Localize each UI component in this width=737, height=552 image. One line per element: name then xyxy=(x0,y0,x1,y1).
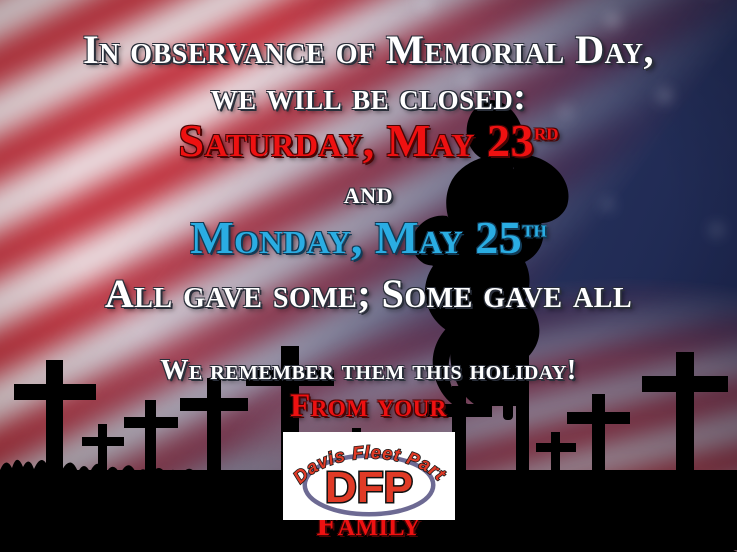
ordinal-suffix-rd: rd xyxy=(534,120,559,146)
conjunction-and: and xyxy=(0,177,737,208)
closure-date-saturday-text: Saturday, May 23 xyxy=(178,115,533,166)
memorial-day-announcement-graphic: In observance of Memorial Day, we will b… xyxy=(0,0,737,552)
closure-date-monday: Monday, May 25th xyxy=(0,215,737,261)
closure-date-saturday: Saturday, May 23rd xyxy=(0,118,737,164)
ordinal-suffix-th: th xyxy=(522,217,547,243)
signoff-from-your: From your xyxy=(0,390,737,423)
remembrance-line: We remember them this holiday! xyxy=(0,357,737,385)
headline-line-1: In observance of Memorial Day, xyxy=(0,30,737,70)
tribute-quote: All gave some; Some gave all xyxy=(0,274,737,314)
logo-monogram: DFP xyxy=(325,463,413,512)
headline-line-2: we will be closed: xyxy=(0,78,737,116)
dfp-company-logo: Davis Fleet Parts DFP xyxy=(283,432,455,520)
closure-date-monday-text: Monday, May 25 xyxy=(190,212,522,263)
